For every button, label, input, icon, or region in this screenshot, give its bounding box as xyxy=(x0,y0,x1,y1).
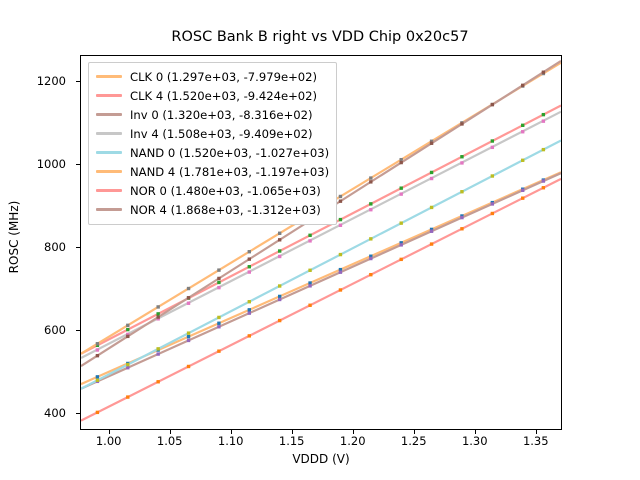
data-point xyxy=(248,270,251,273)
data-point xyxy=(460,122,463,125)
data-point xyxy=(542,71,545,74)
data-point xyxy=(278,284,281,287)
data-point xyxy=(126,324,129,327)
x-tick-mark xyxy=(292,430,293,434)
data-point xyxy=(369,237,372,240)
data-point xyxy=(460,190,463,193)
legend-color-swatch xyxy=(96,170,122,173)
legend-label: Inv 4 (1.508e+03, -9.409e+02) xyxy=(130,127,313,141)
data-point xyxy=(339,271,342,274)
legend-color-swatch xyxy=(96,94,122,97)
legend-color-swatch xyxy=(96,208,122,211)
data-point xyxy=(126,335,129,338)
data-point xyxy=(248,308,251,311)
data-point xyxy=(217,281,220,284)
data-point xyxy=(217,325,220,328)
y-axis-label: ROSC (MHz) xyxy=(7,157,21,317)
data-point xyxy=(278,238,281,241)
legend-item-nor-4[interactable]: NOR 4 (1.868e+03, -1.312e+03) xyxy=(96,200,329,219)
data-point xyxy=(187,335,190,338)
x-tick-label: 1.10 xyxy=(201,434,261,448)
data-point xyxy=(156,380,159,383)
data-point xyxy=(542,148,545,151)
data-point xyxy=(400,221,403,224)
legend-label: NOR 0 (1.480e+03, -1.065e+03) xyxy=(130,184,321,198)
data-point xyxy=(278,249,281,252)
data-point xyxy=(491,146,494,149)
data-point xyxy=(430,177,433,180)
legend-color-swatch xyxy=(96,75,122,78)
data-point xyxy=(278,295,281,298)
data-point xyxy=(369,176,372,179)
legend-label: CLK 0 (1.297e+03, -7.979e+02) xyxy=(130,70,317,84)
y-tick-mark xyxy=(76,164,80,165)
x-tick-mark xyxy=(170,430,171,434)
legend-color-swatch xyxy=(96,113,122,116)
data-point xyxy=(308,234,311,237)
legend-item-clk-4[interactable]: CLK 4 (1.520e+03, -9.424e+02) xyxy=(96,86,329,105)
data-point xyxy=(156,305,159,308)
legend-label: NAND 4 (1.781e+03, -1.197e+03) xyxy=(130,165,329,179)
data-point xyxy=(248,311,251,314)
x-tick-mark xyxy=(414,430,415,434)
data-point xyxy=(126,395,129,398)
chart-title: ROSC Bank B right vs VDD Chip 0x20c57 xyxy=(0,29,640,45)
data-point xyxy=(400,192,403,195)
legend-color-swatch xyxy=(96,189,122,192)
chart-legend[interactable]: CLK 0 (1.297e+03, -7.979e+02)CLK 4 (1.52… xyxy=(88,62,337,225)
data-point xyxy=(369,257,372,260)
x-tick-label: 1.25 xyxy=(384,434,444,448)
data-point xyxy=(248,250,251,253)
data-point xyxy=(491,174,494,177)
data-point xyxy=(96,411,99,414)
data-point xyxy=(491,202,494,205)
data-point xyxy=(278,232,281,235)
data-point xyxy=(339,224,342,227)
data-point xyxy=(339,288,342,291)
data-point xyxy=(278,255,281,258)
legend-label: NOR 4 (1.868e+03, -1.312e+03) xyxy=(130,203,321,217)
data-point xyxy=(217,322,220,325)
data-point xyxy=(430,142,433,145)
data-point xyxy=(460,155,463,158)
data-point xyxy=(126,328,129,331)
data-point xyxy=(156,352,159,355)
data-point xyxy=(126,363,129,366)
data-point xyxy=(339,218,342,221)
chart-figure: ROSC Bank B right vs VDD Chip 0x20c57 40… xyxy=(0,0,640,480)
data-point xyxy=(96,379,99,382)
data-point xyxy=(278,298,281,301)
legend-item-nand-4[interactable]: NAND 4 (1.781e+03, -1.197e+03) xyxy=(96,162,329,181)
data-point xyxy=(521,189,524,192)
data-point xyxy=(187,331,190,334)
legend-color-swatch xyxy=(96,132,122,135)
data-point xyxy=(430,206,433,209)
data-point xyxy=(460,227,463,230)
data-point xyxy=(187,339,190,342)
x-tick-label: 1.30 xyxy=(445,434,505,448)
x-tick-label: 1.05 xyxy=(140,434,200,448)
y-tick-mark xyxy=(76,413,80,414)
data-point xyxy=(491,139,494,142)
data-point xyxy=(400,186,403,189)
data-point xyxy=(460,216,463,219)
data-point xyxy=(400,243,403,246)
data-point xyxy=(187,365,190,368)
data-point xyxy=(96,342,99,345)
x-axis-label: VDDD (V) xyxy=(80,452,562,466)
data-point xyxy=(542,179,545,182)
data-point xyxy=(542,119,545,122)
x-tick-label: 1.20 xyxy=(323,434,383,448)
data-point xyxy=(187,287,190,290)
data-point xyxy=(339,195,342,198)
data-point xyxy=(248,334,251,337)
legend-item-nor-0[interactable]: NOR 0 (1.480e+03, -1.065e+03) xyxy=(96,181,329,200)
data-point xyxy=(521,159,524,162)
data-point xyxy=(248,257,251,260)
y-tick-label: 400 xyxy=(6,406,66,420)
data-point xyxy=(156,347,159,350)
data-point xyxy=(339,253,342,256)
x-tick-mark xyxy=(536,430,537,434)
legend-label: Inv 0 (1.320e+03, -8.316e+02) xyxy=(130,108,313,122)
data-point xyxy=(430,171,433,174)
legend-color-swatch xyxy=(96,151,122,154)
x-tick-label: 1.00 xyxy=(79,434,139,448)
data-point xyxy=(96,375,99,378)
data-point xyxy=(217,349,220,352)
data-point xyxy=(308,239,311,242)
data-point xyxy=(96,348,99,351)
data-point xyxy=(400,161,403,164)
data-point xyxy=(521,196,524,199)
x-tick-label: 1.35 xyxy=(506,434,566,448)
legend-item-nand-0[interactable]: NAND 0 (1.520e+03, -1.027e+03) xyxy=(96,143,329,162)
legend-item-inv-4[interactable]: Inv 4 (1.508e+03, -9.409e+02) xyxy=(96,124,329,143)
data-point xyxy=(430,230,433,233)
y-tick-mark xyxy=(76,330,80,331)
data-point xyxy=(369,180,372,183)
data-point xyxy=(308,269,311,272)
data-point xyxy=(308,284,311,287)
y-tick-label: 1200 xyxy=(6,74,66,88)
data-point xyxy=(187,296,190,299)
legend-item-clk-0[interactable]: CLK 0 (1.297e+03, -7.979e+02) xyxy=(96,67,329,86)
legend-item-inv-0[interactable]: Inv 0 (1.320e+03, -8.316e+02) xyxy=(96,105,329,124)
data-point xyxy=(278,319,281,322)
data-point xyxy=(491,103,494,106)
data-point xyxy=(126,366,129,369)
data-point xyxy=(248,265,251,268)
data-point xyxy=(308,304,311,307)
x-tick-mark xyxy=(231,430,232,434)
legend-label: CLK 4 (1.520e+03, -9.424e+02) xyxy=(130,89,317,103)
data-point xyxy=(369,208,372,211)
data-point xyxy=(521,84,524,87)
data-point xyxy=(156,315,159,318)
data-point xyxy=(248,300,251,303)
legend-label: NAND 0 (1.520e+03, -1.027e+03) xyxy=(130,146,329,160)
y-tick-label: 600 xyxy=(6,323,66,337)
data-point xyxy=(217,316,220,319)
y-tick-mark xyxy=(76,247,80,248)
data-point xyxy=(460,161,463,164)
data-point xyxy=(339,199,342,202)
data-point xyxy=(521,130,524,133)
data-point xyxy=(491,212,494,215)
y-tick-mark xyxy=(76,81,80,82)
data-point xyxy=(217,277,220,280)
data-point xyxy=(217,268,220,271)
x-tick-label: 1.15 xyxy=(262,434,322,448)
data-point xyxy=(430,242,433,245)
data-point xyxy=(521,124,524,127)
data-point xyxy=(217,286,220,289)
x-tick-mark xyxy=(475,430,476,434)
data-point xyxy=(542,113,545,116)
x-tick-mark xyxy=(353,430,354,434)
data-point xyxy=(369,273,372,276)
data-point xyxy=(400,258,403,261)
data-point xyxy=(542,186,545,189)
data-point xyxy=(96,354,99,357)
data-point xyxy=(369,202,372,205)
data-point xyxy=(187,302,190,305)
x-tick-mark xyxy=(109,430,110,434)
